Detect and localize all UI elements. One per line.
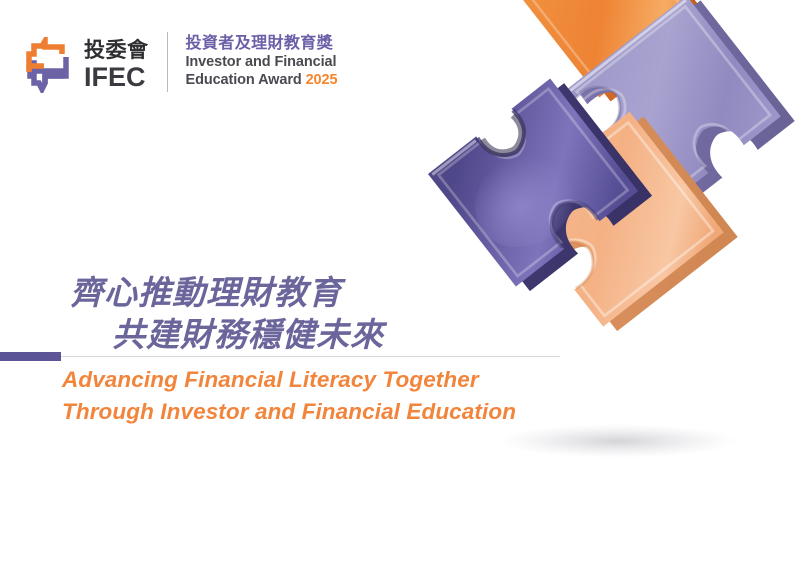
puzzle-drop-shadow [498,424,738,458]
puzzle-piece-peach [509,107,738,336]
ifec-zh-name: 投委會 [84,40,149,61]
ifec-logo: 投委會 IFEC [22,30,149,100]
subtitle-english-line-2: Through Investor and Financial Education [62,396,516,428]
headline-chinese-line-1: 齊心推動理財教育 [70,273,342,312]
award-en-line-1: Investor and Financial [186,54,338,70]
award-en-line-2: Education Award 2025 [186,72,338,88]
puzzle-piece-dark-purple [428,74,652,297]
puzzle-piece-orange-detached [520,0,737,137]
award-en-line-2-text: Education Award [186,72,302,88]
puzzle-piece-lavender [566,0,795,220]
header-logo-lockup: 投委會 IFEC 投資者及理財教育獎 Investor and Financia… [22,24,337,104]
divider-rule-line [61,356,560,357]
award-banner: 投委會 IFEC 投資者及理財教育獎 Investor and Financia… [0,0,801,567]
interlocking-puzzle-pieces-illustration [370,0,801,506]
award-zh-title: 投資者及理財教育獎 [186,34,338,52]
ifec-en-name: IFEC [84,64,149,91]
award-title-block: 投資者及理財教育獎 Investor and Financial Educati… [186,34,338,88]
divider-rule [0,352,560,362]
subtitle-english-line-1: Advancing Financial Literacy Together [62,364,516,396]
ifec-wordmark: 投委會 IFEC [84,40,149,91]
ifec-s-mark-icon [22,37,74,93]
award-year: 2025 [306,72,338,88]
headline-chinese-line-2: 共建財務穩健未來 [70,314,384,356]
lockup-divider [167,32,168,92]
headline-chinese: 齊心推動理財教育 共建財務穩健未來 [70,272,384,356]
divider-rule-bar [0,352,61,361]
subtitle-english: Advancing Financial Literacy Together Th… [62,364,516,428]
